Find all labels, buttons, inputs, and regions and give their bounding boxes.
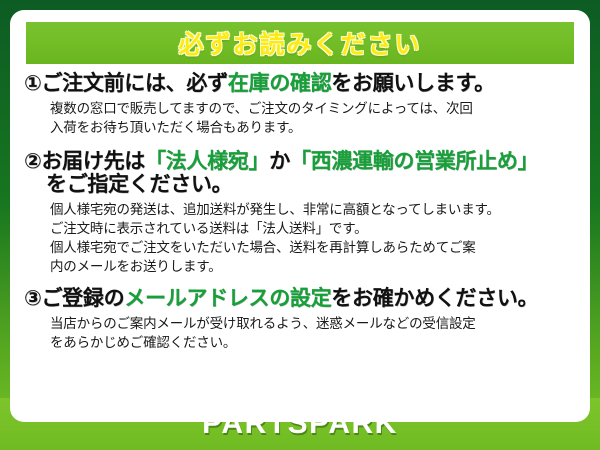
notice-item-2-headline-line2: をご指定ください。 [24,173,578,197]
notice-item-2-headline: ②お届け先は「法人様宛」か「西濃運輸の営業所止め」 [24,150,578,174]
notice-item-1-headline-part-3: をお願いします。 [331,72,495,95]
notice-item-1-subtext: 複数の窓口で販売してますので、ご注文のタイミングによっては、次回 入荷をお待ち頂… [24,99,578,137]
notice-item-3-headline-emphasis: メールアドレスの設定 [124,287,331,310]
notice-item-2-subtext-line-2: ご注文時に表示されている送料は「法人送料」です。 [50,219,578,238]
notice-item-2: ②お届け先は「法人様宛」か「西濃運輸の営業所止め」 をご指定ください。 個人様宅… [24,150,578,277]
notice-item-3: ③ご登録のメールアドレスの設定をお確かめください。 当店からのご案内メールが受け… [24,287,578,352]
notice-item-3-headline: ③ご登録のメールアドレスの設定をお確かめください。 [24,287,578,311]
notice-item-3-marker: ③ [24,287,41,310]
notice-body: ①ご注文前には、必ず在庫の確認をお願いします。 複数の窓口で販売してますので、ご… [10,68,590,422]
notice-item-1-headline-emphasis: 在庫の確認 [228,72,332,95]
notice-item-1-subtext-line-1: 複数の窓口で販売してますので、ご注文のタイミングによっては、次回 [50,99,578,118]
banner-title: 必ずお読みください [178,25,421,61]
notice-card: 必ずお読みください ①ご注文前には、必ず在庫の確認をお願いします。 複数の窓口で… [10,10,590,422]
notice-item-2-headline-emphasis-1: 「法人様宛」 [145,150,269,173]
notice-item-3-subtext-line-2: をあらかじめご確認ください。 [50,333,578,352]
notice-item-1-subtext-line-2: 入荷をお待ち頂いただく場合もあります。 [50,118,578,137]
notice-item-2-marker: ② [24,150,41,173]
notice-item-1-headline: ①ご注文前には、必ず在庫の確認をお願いします。 [24,72,578,96]
notice-item-2-headline-part-1: お届け先は [41,150,145,173]
notice-item-2-headline-part-3: か [269,150,290,173]
header-banner: 必ずお読みください [26,22,574,64]
notice-item-1-headline-part-1: ご注文前には、必ず [41,72,227,95]
notice-item-3-subtext: 当店からのご案内メールが受け取れるよう、迷惑メールなどの受信設定 をあらかじめご… [24,314,578,352]
notice-item-2-subtext: 個人様宅宛の発送は、追加送料が発生し、非常に高額となってしまいます。 ご注文時に… [24,200,578,277]
notice-item-2-subtext-line-3: 個人様宅宛でご注文をいただいた場合、送料を再計算しあらためてご案 [50,238,578,257]
notice-item-3-subtext-line-1: 当店からのご案内メールが受け取れるよう、迷惑メールなどの受信設定 [50,314,578,333]
notice-item-3-headline-part-1: ご登録の [41,287,124,310]
notice-item-2-subtext-line-1: 個人様宅宛の発送は、追加送料が発生し、非常に高額となってしまいます。 [50,200,578,219]
item-spacer-1 [24,139,578,150]
notice-item-1: ①ご注文前には、必ず在庫の確認をお願いします。 複数の窓口で販売してますので、ご… [24,72,578,137]
notice-item-2-subtext-line-4: 内のメールをお送りします。 [50,257,578,276]
notice-item-2-headline-emphasis-2: 「西濃運輸の営業所止め」 [290,150,538,173]
notice-item-1-marker: ① [24,72,41,95]
notice-poster: 必ずお読みください ①ご注文前には、必ず在庫の確認をお願いします。 複数の窓口で… [0,0,600,450]
notice-item-3-headline-part-3: をお確かめください。 [331,287,538,310]
